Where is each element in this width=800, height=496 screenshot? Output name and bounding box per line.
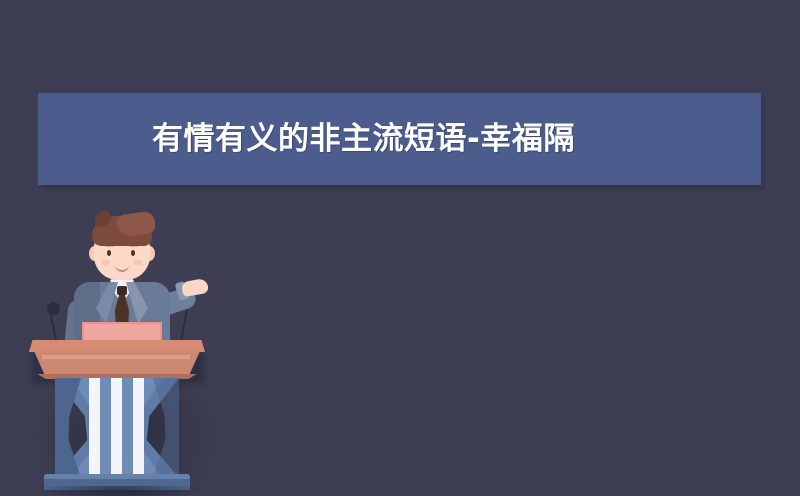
page-title: 有情有义的非主流短语-幸福隔 [152, 124, 575, 155]
pedestal-stripe [89, 378, 100, 478]
podium-base-plate-top [44, 474, 190, 479]
page-root: 有情有义的非主流短语-幸福隔 [0, 0, 800, 496]
pedestal-stripe [133, 378, 144, 478]
podium-top-surface [29, 340, 205, 352]
speaker-illustration [22, 208, 222, 496]
podium-base-shadow [38, 486, 198, 496]
title-banner: 有情有义的非主流短语-幸福隔 [38, 93, 761, 185]
podium-front-highlight [42, 355, 190, 359]
podium [22, 208, 222, 496]
pedestal-stripe [111, 378, 122, 478]
podium-pedestal [55, 378, 179, 478]
